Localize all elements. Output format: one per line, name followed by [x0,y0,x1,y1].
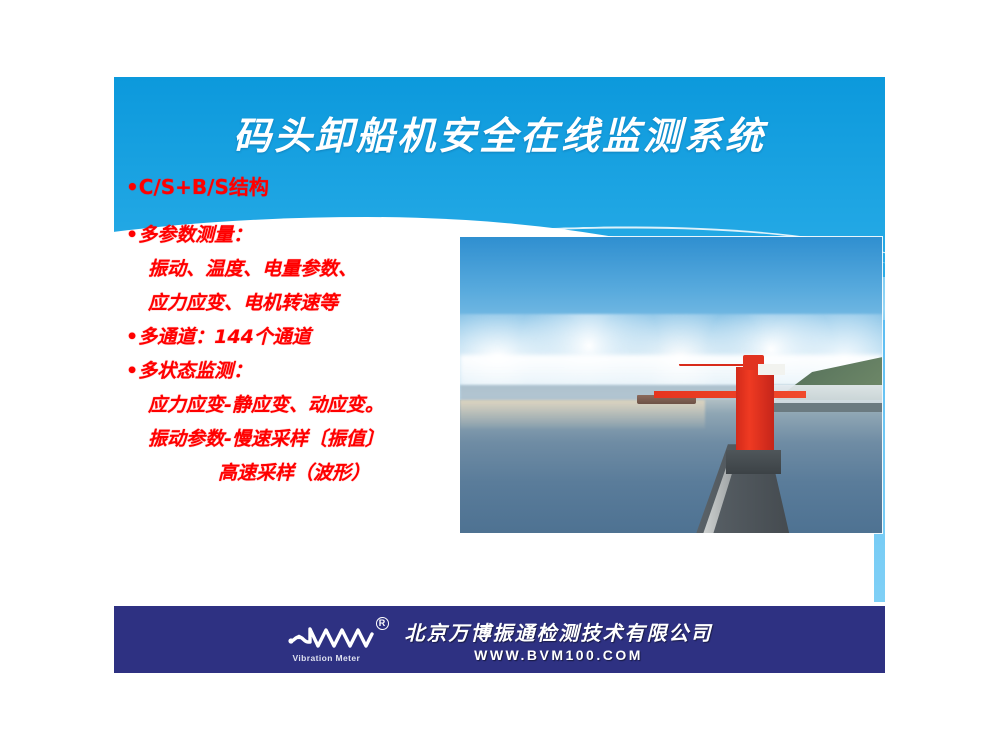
footer-company-name: 北京万博振通检测技术有限公司 [405,617,713,646]
photo-sea-sheen [460,400,705,430]
text-param-line-1: 振动、温度、电量参数、 [126,252,486,286]
text-param-line-2: 应力应变、电机转速等 [126,286,486,320]
slide-title: 码头卸船机安全在线监测系统 [114,105,885,160]
bullet-multi-channel: •多通道：144个通道 [126,320,486,354]
bullet-cs-bs: •C/S+B/S结构 [126,172,486,202]
ship-unloader-photo [460,237,882,533]
photo-distant-pier [755,403,882,412]
vibration-meter-logo: R Vibration Meter [287,617,391,663]
footer-company-block: 北京万博振通检测技术有限公司 WWW.BVM100.COM [405,617,713,663]
text-state-line-1: 应力应变-静应变、动应变。 [126,388,486,422]
text-state-line-2: 振动参数-慢速采样〔振值〕 [126,422,486,456]
slide-canvas: 码头卸船机安全在线监测系统 •C/S+B/S结构 •多参数测量： 振动、温度、电… [0,0,1000,750]
photo-crane-base [726,450,781,474]
slide-footer: R Vibration Meter 北京万博振通检测技术有限公司 WWW.BVM… [114,606,885,673]
photo-crane-tower [736,367,774,456]
text-state-line-3: 高速采样（波形） [126,456,486,490]
bullet-multi-param: •多参数测量： [126,218,486,252]
presentation-slide: 码头卸船机安全在线监测系统 •C/S+B/S结构 •多参数测量： 振动、温度、电… [114,77,885,673]
bullet-list: •C/S+B/S结构 •多参数测量： 振动、温度、电量参数、 应力应变、电机转速… [126,172,486,490]
registered-trademark-icon: R [376,617,389,630]
footer-content: R Vibration Meter 北京万博振通检测技术有限公司 WWW.BVM… [114,606,885,673]
bullet-multi-state: •多状态监测： [126,354,486,388]
footer-website: WWW.BVM100.COM [474,647,643,663]
logo-subtitle: Vibration Meter [293,653,361,663]
photo-crane-sign [758,364,785,375]
